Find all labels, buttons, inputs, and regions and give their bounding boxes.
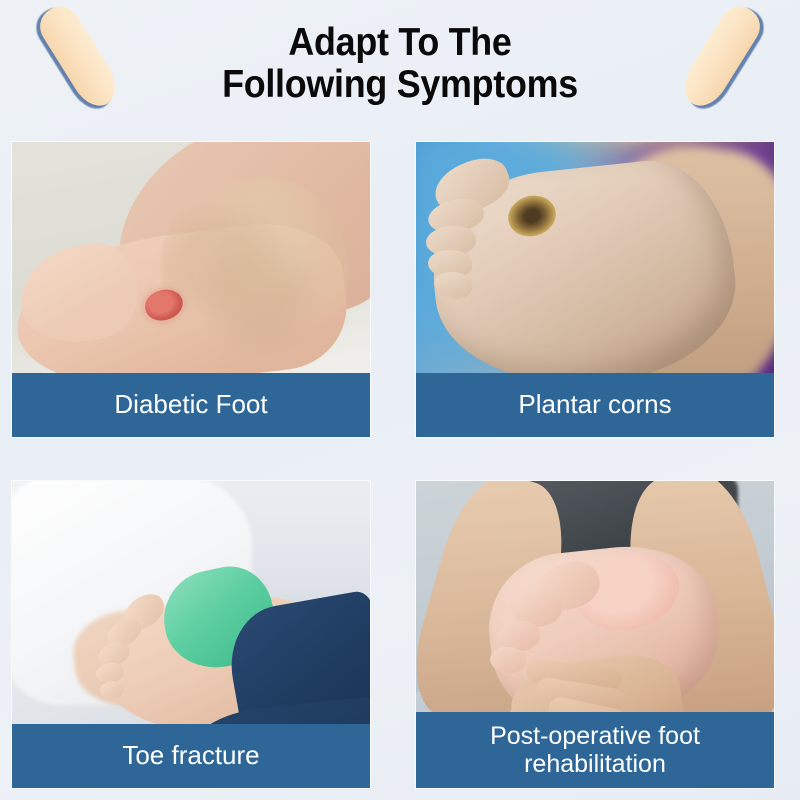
symptom-card-plantar-corns[interactable]: Plantar corns [416,142,774,437]
symptom-label-text-line-2: rehabilitation [490,750,700,778]
symptom-label-bar: Plantar corns [416,373,774,437]
symptom-label-text: Plantar corns [518,390,671,419]
symptom-label-text-block: Post-operative foot rehabilitation [490,722,700,778]
symptom-label-bar: Post-operative foot rehabilitation [416,712,774,788]
symptom-card-post-operative-foot-rehabilitation[interactable]: Post-operative foot rehabilitation [416,481,774,788]
symptom-label-text-line-1: Post-operative foot [490,722,700,750]
symptom-card-grid: Diabetic Foot Plantar corns [12,142,788,788]
photo-patient-toes [98,597,208,707]
symptom-label-text: Diabetic Foot [114,390,267,419]
symptom-label-text: Toe fracture [122,741,259,770]
symptom-label-bar: Diabetic Foot [12,373,370,437]
page-title-line-2: Following Symptoms [32,64,768,106]
page-title-line-1: Adapt To The [32,22,768,64]
page-title: Adapt To The Following Symptoms [32,22,768,106]
symptom-label-bar: Toe fracture [12,724,370,788]
symptom-card-toe-fracture[interactable]: Toe fracture [12,481,370,788]
header-banner: Adapt To The Following Symptoms [0,0,800,142]
symptom-card-diabetic-foot[interactable]: Diabetic Foot [12,142,370,437]
